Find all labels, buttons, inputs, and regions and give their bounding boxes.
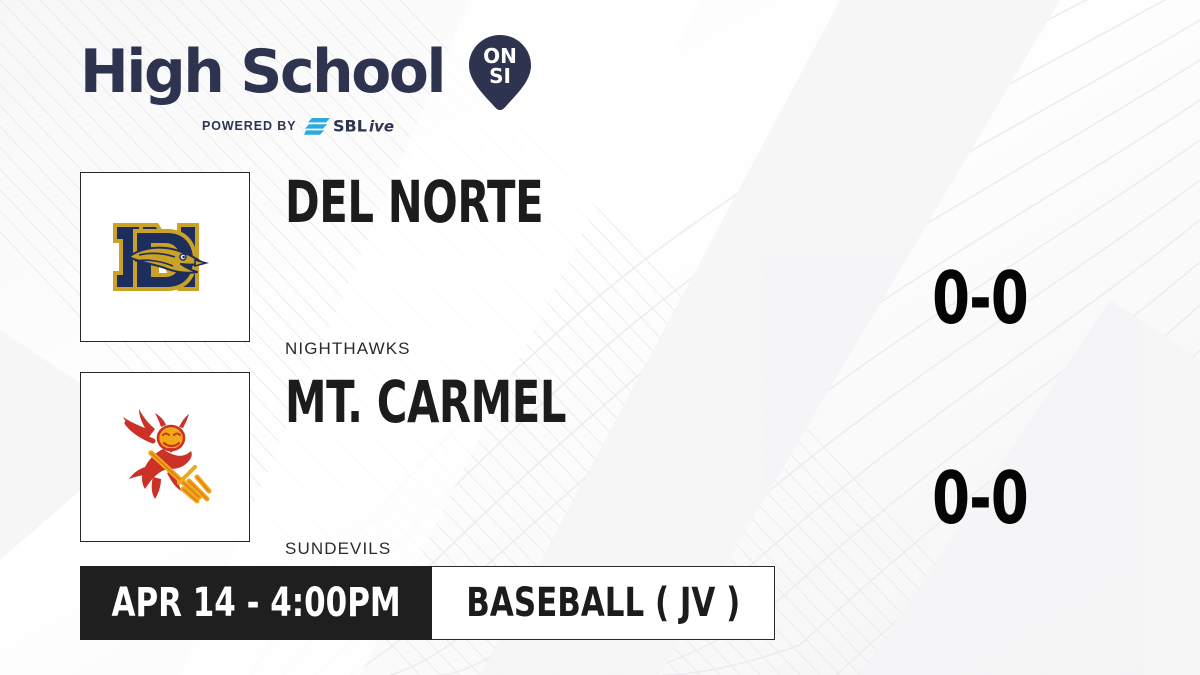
game-sport-block: BASEBALL ( JV ) [432,566,775,640]
team-name: DEL NORTE [285,176,733,229]
team-text-block: MT. CARMEL SUNDEVILS [285,372,845,429]
team-logo-box[interactable] [80,172,250,342]
team-name: MT. CARMEL [285,376,733,429]
del-norte-nighthawks-logo-icon [105,197,225,317]
team-score-value: 0-0 [932,262,1028,334]
brand-lockup: High School ON SI POWERED BY SBL ive [80,33,510,135]
onsi-location-pin-icon: ON SI [469,35,531,110]
sblive-logo: SBL ive [304,117,419,135]
team-score-value: 0-0 [932,462,1028,534]
team-score: 0-0 [880,262,1080,334]
game-sport: BASEBALL ( JV ) [466,580,740,626]
brand-title: High School [80,42,444,102]
sblive-word-italic: ive [369,118,394,136]
team-mascot: SUNDEVILS [285,539,391,559]
sblive-wordmark-icon: SBL ive [333,117,419,135]
team-logo-box[interactable] [80,372,250,542]
powered-by-lockup: POWERED BY SBL ive [202,117,510,135]
team-text-block: DEL NORTE NIGHTHAWKS [285,172,845,229]
sblive-s-mark-icon [304,118,330,135]
team-score: 0-0 [880,462,1080,534]
powered-by-label: POWERED BY [202,119,296,133]
brand-wordmark: High School ON SI [80,33,510,110]
mt-carmel-sundevils-logo-icon [105,397,225,517]
game-datetime-block: APR 14 - 4:00PM [80,566,432,640]
sblive-word-bold: SBL [333,117,367,135]
pin-label-si: SI [490,64,512,88]
team-mascot: NIGHTHAWKS [285,339,411,359]
game-datetime: APR 14 - 4:00PM [111,580,400,626]
game-info-banner: APR 14 - 4:00PM BASEBALL ( JV ) [80,566,775,640]
